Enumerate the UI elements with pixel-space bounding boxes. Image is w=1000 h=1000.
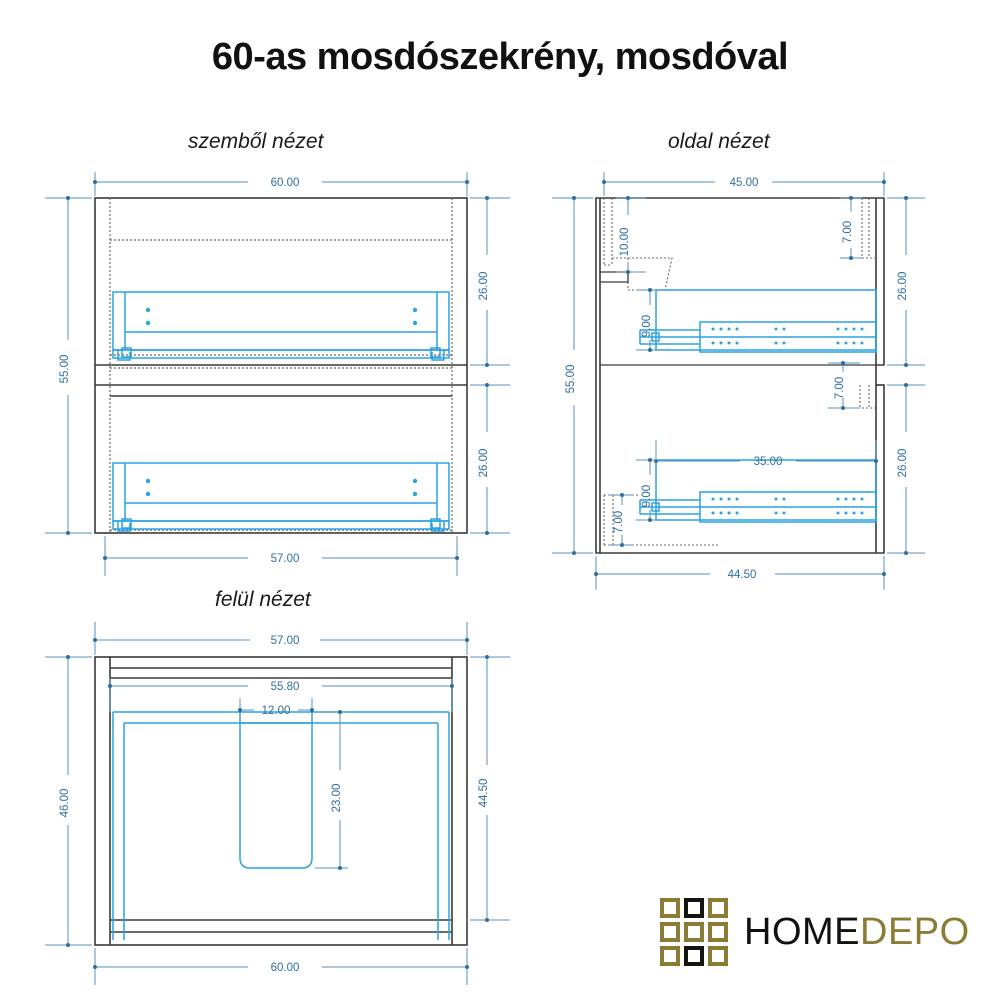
logo-cell [684,922,704,942]
logo-text-home: HOME [744,911,860,953]
dim-top-4450 [470,657,510,920]
technical-drawing-page: 60-as mosdószekrény, mosdóval szemből né… [0,0,1000,1000]
dim-label: 55.80 [271,681,300,693]
dim-label: 57.00 [271,635,300,647]
top-view-drawing: 57.00 55.80 12.00 23.00 [0,0,1000,1000]
logo-cell [708,946,728,966]
logo-cell [708,898,728,918]
logo-cell [684,946,704,966]
logo-wordmark: HOMEDEPO [744,911,970,954]
logo-text-depo: DEPO [860,911,970,953]
dim-label: 60.00 [271,962,300,974]
logo-cell [708,922,728,942]
top-basin [113,712,449,940]
logo-cell [684,898,704,918]
logo-cell [660,946,680,966]
logo-grid-icon [660,898,728,966]
dim-label: 46.00 [59,789,71,818]
homedepo-logo: HOMEDEPO [660,898,970,966]
logo-cell [660,922,680,942]
logo-cell [660,898,680,918]
dim-label: 23.00 [331,784,343,813]
dim-label: 44.50 [478,779,490,808]
dim-label: 12.00 [262,705,291,717]
